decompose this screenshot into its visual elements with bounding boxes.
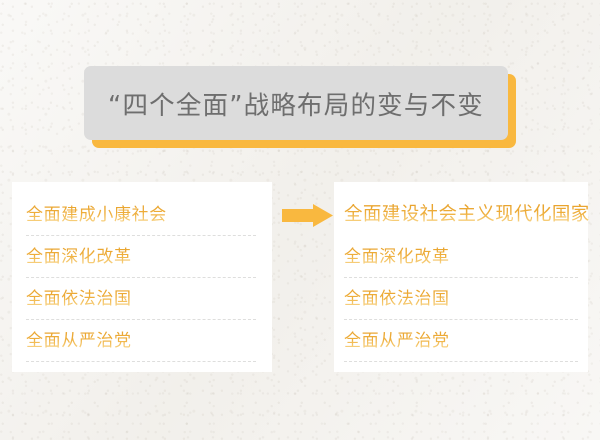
list-item-label: 全面从严治党 (344, 330, 450, 352)
arrow-right-icon (282, 204, 333, 227)
list-item-divider (344, 277, 578, 278)
panel-before-list: 全面建成小康社会 全面深化改革 全面依法治国 全面从严治党 (12, 182, 272, 372)
list-item: 全面依法治国 (26, 288, 258, 330)
page-title: “四个全面”战略布局的变与不变 (108, 85, 484, 122)
list-item-divider (26, 319, 256, 320)
title-banner-box: “四个全面”战略布局的变与不变 (84, 66, 508, 140)
list-item-label: 全面建设社会主义现代化国家 (344, 204, 590, 226)
list-item-label: 全面依法治国 (26, 288, 132, 310)
list-item: 全面依法治国 (344, 288, 580, 330)
list-item-divider (26, 235, 256, 236)
list-item: 全面建成小康社会 (26, 204, 258, 246)
list-item-divider (26, 361, 256, 362)
list-item-label: 全面深化改革 (26, 246, 132, 268)
list-item-divider (344, 319, 578, 320)
list-item-label: 全面深化改革 (344, 246, 450, 268)
list-item: 全面从严治党 (344, 330, 580, 372)
list-item: 全面从严治党 (26, 330, 258, 372)
list-item: 全面建设社会主义现代化国家 (344, 204, 580, 246)
list-item: 全面深化改革 (26, 246, 258, 288)
list-item-label: 全面建成小康社会 (26, 204, 167, 226)
list-item-divider (26, 277, 256, 278)
list-item-divider (344, 361, 578, 362)
title-banner: “四个全面”战略布局的变与不变 (84, 66, 508, 140)
panel-after-list: 全面建设社会主义现代化国家 全面深化改革 全面依法治国 全面从严治党 (334, 182, 588, 372)
list-item-label: 全面依法治国 (344, 288, 450, 310)
list-item-label: 全面从严治党 (26, 330, 132, 352)
list-item: 全面深化改革 (344, 246, 580, 288)
